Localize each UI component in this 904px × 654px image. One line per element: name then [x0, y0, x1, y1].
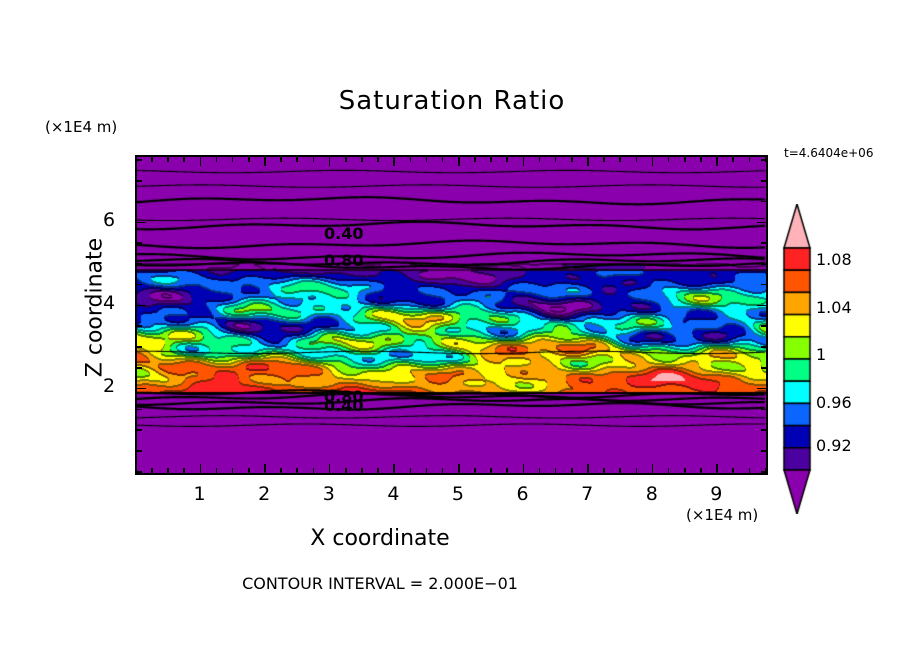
axis-tick [135, 325, 142, 327]
axis-tick [619, 155, 621, 162]
axis-tick [264, 155, 266, 166]
axis-tick [135, 346, 142, 348]
contour-interval-note: CONTOUR INTERVAL = 2.000E−01 [0, 574, 760, 593]
axis-tick [761, 284, 768, 286]
axis-tick-label: 2 [250, 483, 278, 505]
axis-tick [135, 180, 142, 182]
axis-tick [135, 263, 142, 265]
axis-tick [313, 155, 315, 162]
axis-tick [216, 155, 218, 162]
x-axis-unit-label: (×1E4 m) [686, 506, 758, 524]
colorbar-tick-label: 1.04 [816, 298, 852, 317]
axis-tick [761, 450, 768, 452]
contour-label: 0.80 [324, 251, 363, 270]
axis-tick [668, 468, 670, 475]
axis-tick [296, 155, 298, 162]
x-axis-label: X coordinate [0, 526, 760, 551]
axis-tick [539, 155, 541, 162]
axis-tick [151, 155, 153, 162]
axis-tick [458, 464, 460, 475]
axis-tick [135, 222, 146, 224]
axis-tick [757, 305, 768, 307]
axis-tick [248, 468, 250, 475]
axis-tick [603, 155, 605, 162]
axis-tick [216, 468, 218, 475]
axis-tick [506, 468, 508, 475]
axis-tick [761, 346, 768, 348]
axis-tick [135, 159, 142, 161]
axis-tick [539, 468, 541, 475]
axis-tick-label: 7 [573, 483, 601, 505]
axis-tick [636, 468, 638, 475]
axis-tick [442, 155, 444, 162]
axis-tick [458, 155, 460, 166]
axis-tick [490, 155, 492, 162]
axis-tick [700, 468, 702, 475]
axis-tick [749, 155, 751, 162]
axis-tick [361, 155, 363, 162]
axis-tick [264, 464, 266, 475]
contour-field-canvas [137, 157, 766, 473]
axis-tick [135, 242, 142, 244]
colorbar-tick-label: 1 [816, 345, 826, 364]
axis-tick [684, 155, 686, 162]
axis-tick [732, 468, 734, 475]
axis-tick [523, 155, 525, 166]
axis-tick [506, 155, 508, 162]
axis-tick-label: 4 [379, 483, 407, 505]
axis-tick [716, 464, 718, 475]
axis-tick [135, 471, 142, 473]
axis-tick [603, 468, 605, 475]
axis-tick [410, 155, 412, 162]
axis-tick [474, 155, 476, 162]
axis-tick [232, 155, 234, 162]
axis-tick [587, 464, 589, 475]
axis-tick [183, 468, 185, 475]
axis-tick [761, 201, 768, 203]
axis-tick [619, 468, 621, 475]
axis-tick [761, 180, 768, 182]
axis-tick [716, 155, 718, 166]
axis-tick [361, 468, 363, 475]
axis-tick [684, 468, 686, 475]
axis-tick [555, 155, 557, 162]
axis-tick [761, 367, 768, 369]
axis-tick [135, 305, 146, 307]
axis-tick-label: 9 [702, 483, 730, 505]
y-axis-unit-label: (×1E4 m) [45, 118, 117, 136]
axis-tick [280, 155, 282, 162]
contour-label: 0.40 [324, 224, 363, 243]
axis-tick [200, 464, 202, 475]
axis-tick [345, 155, 347, 162]
axis-tick [135, 409, 142, 411]
axis-tick [248, 155, 250, 162]
axis-tick [490, 468, 492, 475]
axis-tick [761, 263, 768, 265]
chart-title: Saturation Ratio [0, 86, 904, 116]
axis-tick [442, 468, 444, 475]
colorbar-tick-label: 1.08 [816, 250, 852, 269]
axis-tick [652, 464, 654, 475]
axis-tick [151, 468, 153, 475]
axis-tick [668, 155, 670, 162]
axis-tick [555, 468, 557, 475]
axis-tick-label: 5 [444, 483, 472, 505]
axis-tick [700, 155, 702, 162]
axis-tick [135, 284, 142, 286]
axis-tick [523, 464, 525, 475]
axis-tick [571, 155, 573, 162]
axis-tick [761, 242, 768, 244]
axis-tick [135, 367, 142, 369]
axis-tick [757, 388, 768, 390]
axis-tick [587, 155, 589, 166]
axis-tick-label: 6 [509, 483, 537, 505]
axis-tick [636, 155, 638, 162]
axis-tick [329, 464, 331, 475]
axis-tick [761, 409, 768, 411]
axis-tick [377, 155, 379, 162]
axis-tick-label: 1 [186, 483, 214, 505]
axis-tick [761, 429, 768, 431]
colorbar-tick-label: 0.96 [816, 393, 852, 412]
axis-tick [652, 155, 654, 166]
axis-tick [761, 471, 768, 473]
axis-tick [183, 155, 185, 162]
axis-tick [167, 468, 169, 475]
axis-tick [749, 468, 751, 475]
axis-tick [296, 468, 298, 475]
axis-tick [393, 155, 395, 166]
axis-tick [329, 155, 331, 166]
axis-tick [377, 468, 379, 475]
axis-tick [280, 468, 282, 475]
axis-tick [200, 155, 202, 166]
axis-tick [761, 325, 768, 327]
colorbar-tick-label: 0.92 [816, 436, 852, 455]
colorbar [782, 204, 812, 514]
contour-label: 0.40 [324, 396, 363, 415]
axis-tick [761, 159, 768, 161]
axis-tick [393, 464, 395, 475]
axis-tick [135, 388, 146, 390]
axis-tick [167, 155, 169, 162]
axis-tick [313, 468, 315, 475]
axis-tick [426, 468, 428, 475]
axis-tick [732, 155, 734, 162]
time-annotation: t=4.6404e+06 [784, 146, 873, 160]
z-axis-label: Z coordinate [83, 208, 108, 408]
axis-tick [426, 155, 428, 162]
axis-tick [135, 429, 142, 431]
axis-tick [757, 222, 768, 224]
axis-tick [571, 468, 573, 475]
axis-tick-label: 8 [638, 483, 666, 505]
axis-tick-label: 3 [315, 483, 343, 505]
axis-tick [410, 468, 412, 475]
axis-tick [135, 201, 142, 203]
axis-tick [345, 468, 347, 475]
contour-plot-area: 0.400.800.800.40 [135, 155, 768, 475]
axis-tick [232, 468, 234, 475]
axis-tick [474, 468, 476, 475]
axis-tick [135, 450, 142, 452]
